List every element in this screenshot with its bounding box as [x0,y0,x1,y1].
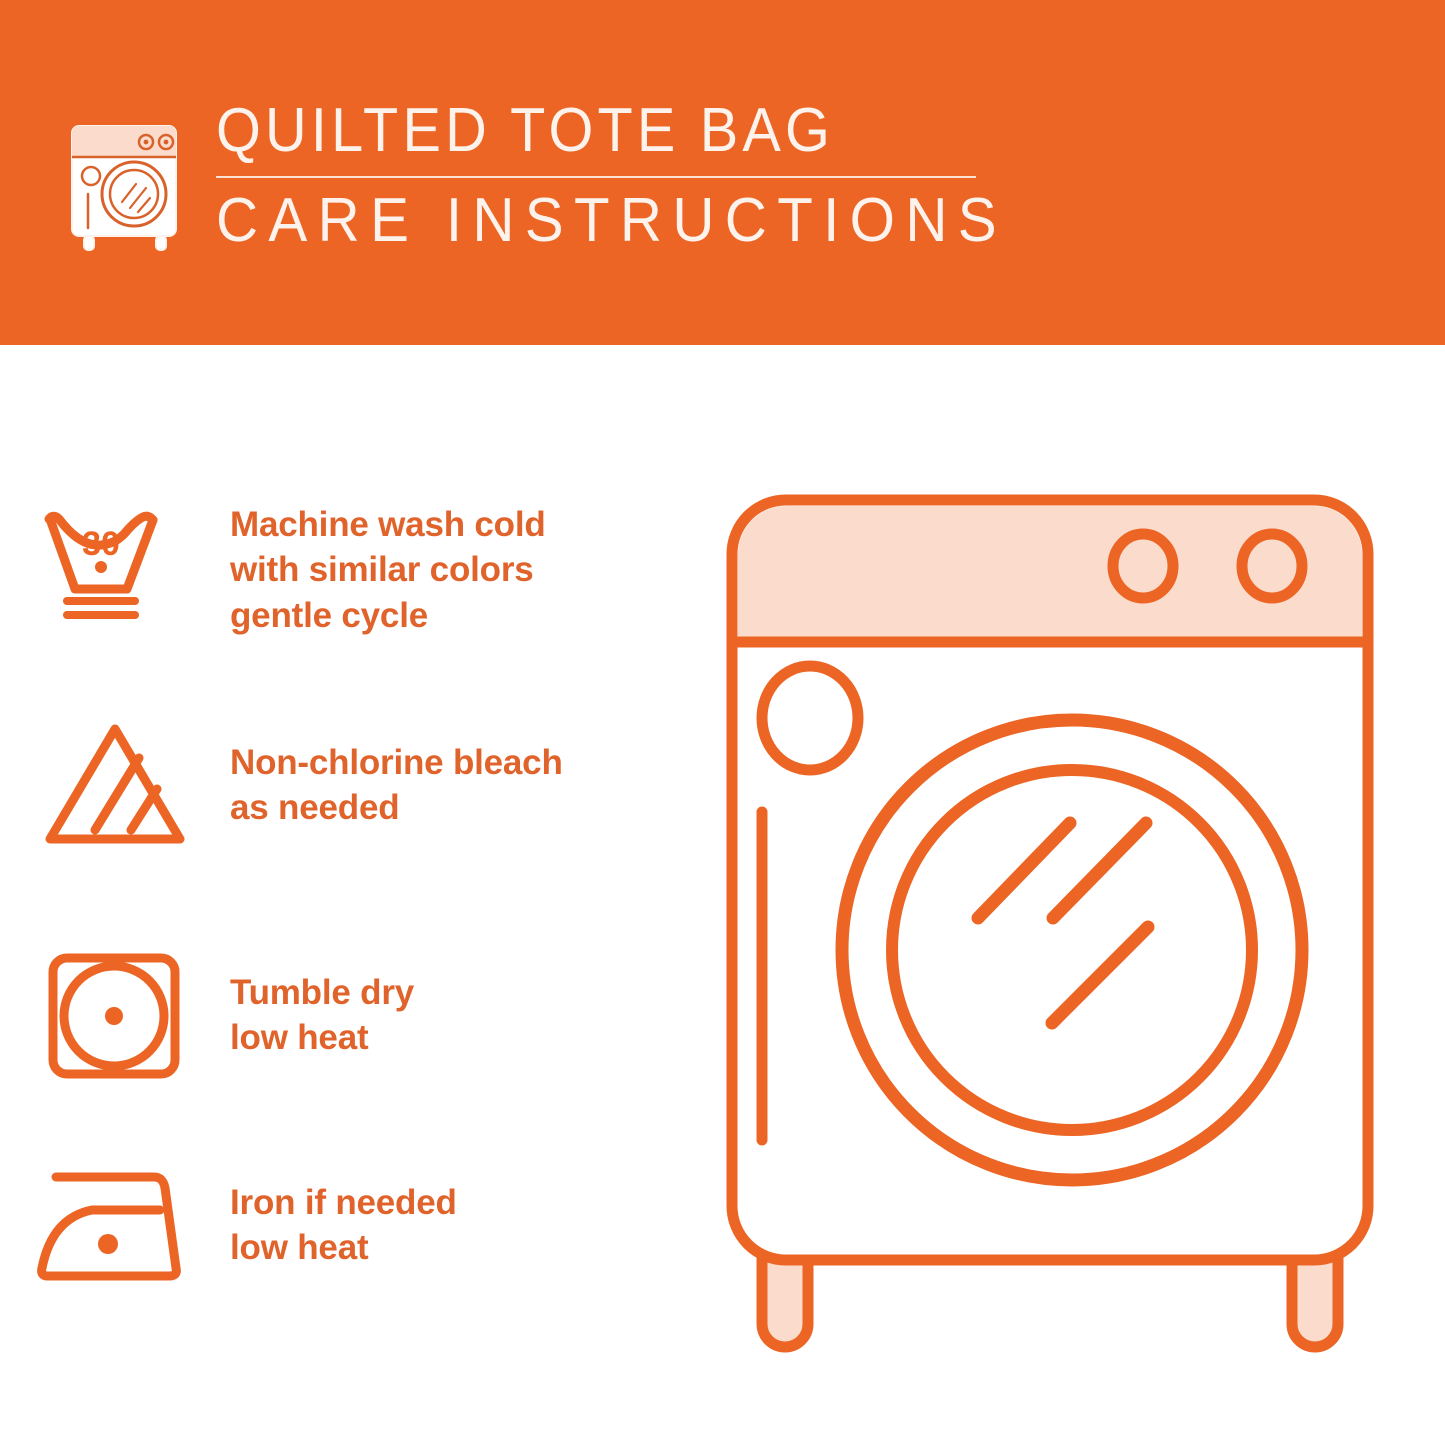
tumble-dry-low-icon [0,943,230,1088]
list-item: 30 Machine wash cold with similar colors… [0,480,700,660]
machine-wash-30-gentle-icon: 30 [0,503,230,638]
care-instructions-list: 30 Machine wash cold with similar colors… [0,345,700,1445]
instruction-text-dry: Tumble dry low heat [230,970,700,1061]
front-load-washing-machine-illustration [700,440,1400,1390]
instruction-text-bleach: Non-chlorine bleach as needed [230,740,700,831]
instruction-text-wash: Machine wash cold with similar colors ge… [230,502,700,639]
list-item: Iron if needed low heat [0,1140,700,1310]
list-item: Tumble dry low heat [0,930,700,1100]
header-band: QUILTED TOTE BAG CARE INSTRUCTIONS [0,0,1445,345]
iron-low-heat-icon [0,1160,230,1290]
machine-legs [762,1252,1338,1347]
non-chlorine-bleach-triangle-icon [0,715,230,855]
page-subtitle: CARE INSTRUCTIONS [216,190,959,252]
wash-temp-label: 30 [82,525,120,563]
washing-machine-icon [66,106,186,254]
page-title: QUILTED TOTE BAG [216,100,951,162]
instruction-text-iron: Iron if needed low heat [230,1180,700,1271]
title-divider [216,176,976,178]
list-item: Non-chlorine bleach as needed [0,700,700,870]
control-panel [738,506,1362,640]
header-title-block: QUILTED TOTE BAG CARE INSTRUCTIONS [216,100,1006,252]
